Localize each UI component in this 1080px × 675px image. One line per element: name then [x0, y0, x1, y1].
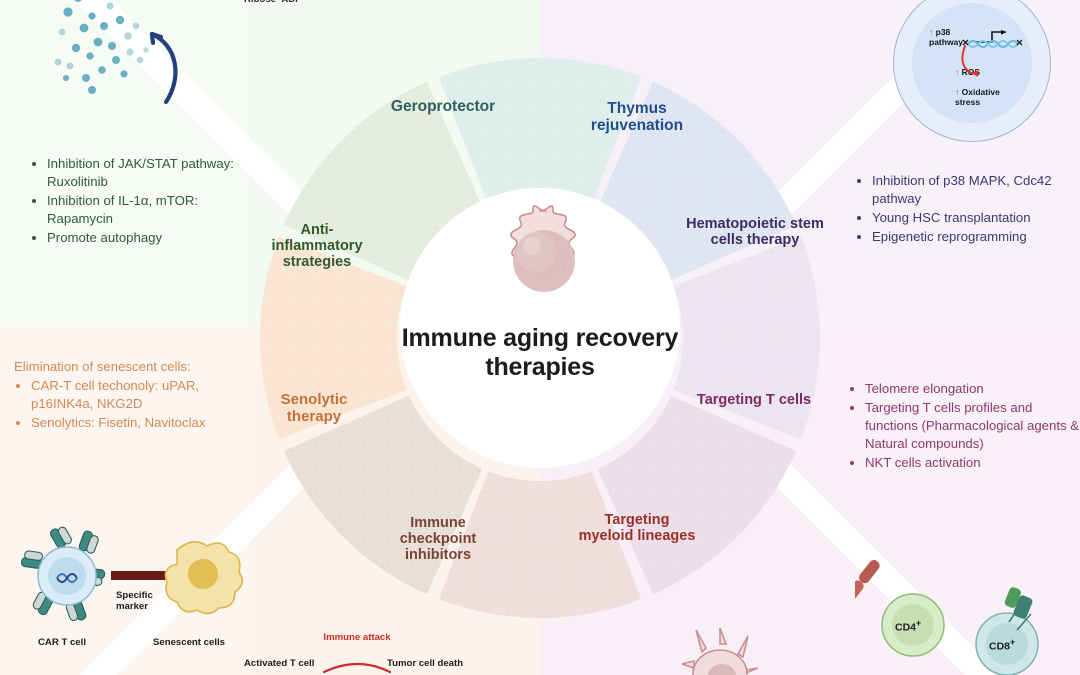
top-left-bullet-list: Inhibition of JAK/STAT pathway: Ruxoliti… [30, 155, 245, 248]
list-item: Senolytics: Fisetin, Navitoclax [31, 414, 254, 432]
cd4-label: CD4+ [895, 618, 921, 634]
list-item: Young HSC transplantation [872, 209, 1080, 227]
bullet-list: Telomere elongation Targeting T cells pr… [848, 380, 1080, 472]
activated-t-cell-label: Activated T cell [244, 658, 314, 669]
list-item: NKT cells activation [865, 454, 1080, 472]
bottom-left-bullet-list: Elimination of senescent cells: CAR-T ce… [14, 358, 254, 433]
p38-pathway-cell-icon: ↑ p38 pathway ↑ ROS ↑ Oxidative stress [893, 0, 1051, 142]
sasp-cytokine-dots-icon [40, 0, 290, 160]
list-item: CAR-T cell techonoly: uPAR, p16INK4a, NK… [31, 377, 254, 413]
list-item: Telomere elongation [865, 380, 1080, 398]
list-item: Epigenetic reprogramming [872, 228, 1080, 246]
bottom-left-lead: Elimination of senescent cells: [14, 358, 254, 376]
page-title: Immune aging recovery therapies [400, 324, 680, 381]
senescent-cells-label: Senescent cells [153, 637, 225, 648]
immune-cell-icon [482, 204, 598, 320]
list-item: Inhibition of IL-1α, mTOR: Rapamycin [47, 192, 245, 228]
p38-dna-and-arrows-icon [893, 0, 1051, 142]
wheel-center-hub: Immune aging recovery therapies [400, 188, 680, 468]
myeloid-cell-icon [682, 628, 758, 675]
bullet-list: Inhibition of p38 MAPK, Cdc42 pathway Yo… [855, 172, 1080, 246]
list-item: Inhibition of p38 MAPK, Cdc42 pathway [872, 172, 1080, 208]
bullet-list: Inhibition of JAK/STAT pathway: Ruxoliti… [30, 155, 245, 247]
top-right-bullet-list: Inhibition of p38 MAPK, Cdc42 pathway Yo… [855, 172, 1080, 247]
cd8-label: CD8+ [989, 637, 1015, 653]
bottom-right-bullet-list: Telomere elongation Targeting T cells pr… [848, 380, 1080, 473]
car-t-cell-label: CAR T cell [38, 637, 86, 648]
list-item: Targeting T cells profiles and functions… [865, 399, 1080, 453]
tumor-cell-death-label: Tumor cell death [387, 658, 463, 669]
list-item: Inhibition of JAK/STAT pathway: Ruxoliti… [47, 155, 245, 191]
specific-marker-label: Specific marker [116, 590, 180, 612]
infographic-canvas: Geroprotector Thymus rejuvenation Hemato… [0, 0, 1080, 675]
cd4-cd8-illustration: CD4+ CD8+ [855, 540, 1080, 675]
immune-attack-illustration: Immune attack Activated T cell Tumor cel… [228, 632, 528, 675]
cd4-cd8-cells-icon [855, 540, 1080, 675]
bullet-list: CAR-T cell techonoly: uPAR, p16INK4a, NK… [14, 377, 254, 432]
immune-attack-label: Immune attack [321, 632, 393, 643]
list-item: Promote autophagy [47, 229, 245, 247]
